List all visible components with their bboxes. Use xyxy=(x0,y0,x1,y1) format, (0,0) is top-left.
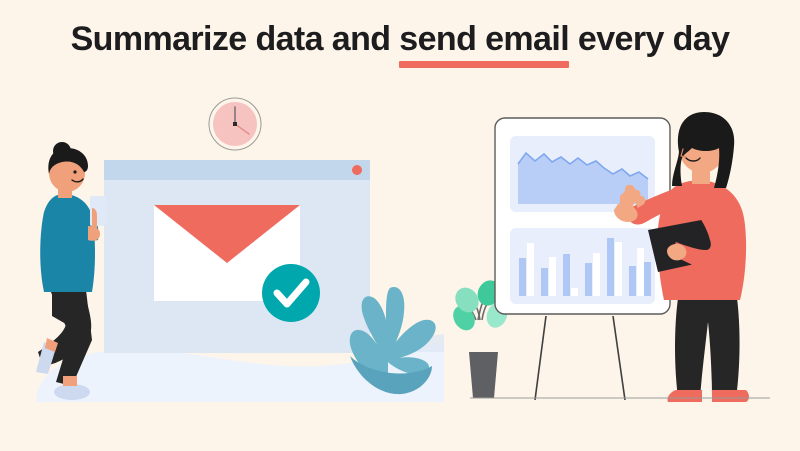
check-badge xyxy=(262,264,320,322)
easel-leg-left xyxy=(535,316,546,400)
person-right-pants xyxy=(675,298,740,398)
bar-chart xyxy=(510,228,655,304)
plant-pot xyxy=(469,352,498,398)
person-left-shoe-front xyxy=(54,384,90,400)
easel-leg-right xyxy=(613,316,625,400)
illustration-canvas: Summarize data and send email every day xyxy=(0,0,800,451)
person-right-shoe-right xyxy=(712,390,749,402)
scene-illustration xyxy=(0,0,800,451)
email-window[interactable] xyxy=(104,160,370,353)
person-left-hand xyxy=(88,226,100,241)
wall-clock xyxy=(209,98,261,150)
window-close-dot xyxy=(352,165,362,175)
person-left-bun xyxy=(53,142,71,160)
presentation-board[interactable] xyxy=(495,118,670,400)
person-right-shoe-left xyxy=(667,390,702,402)
